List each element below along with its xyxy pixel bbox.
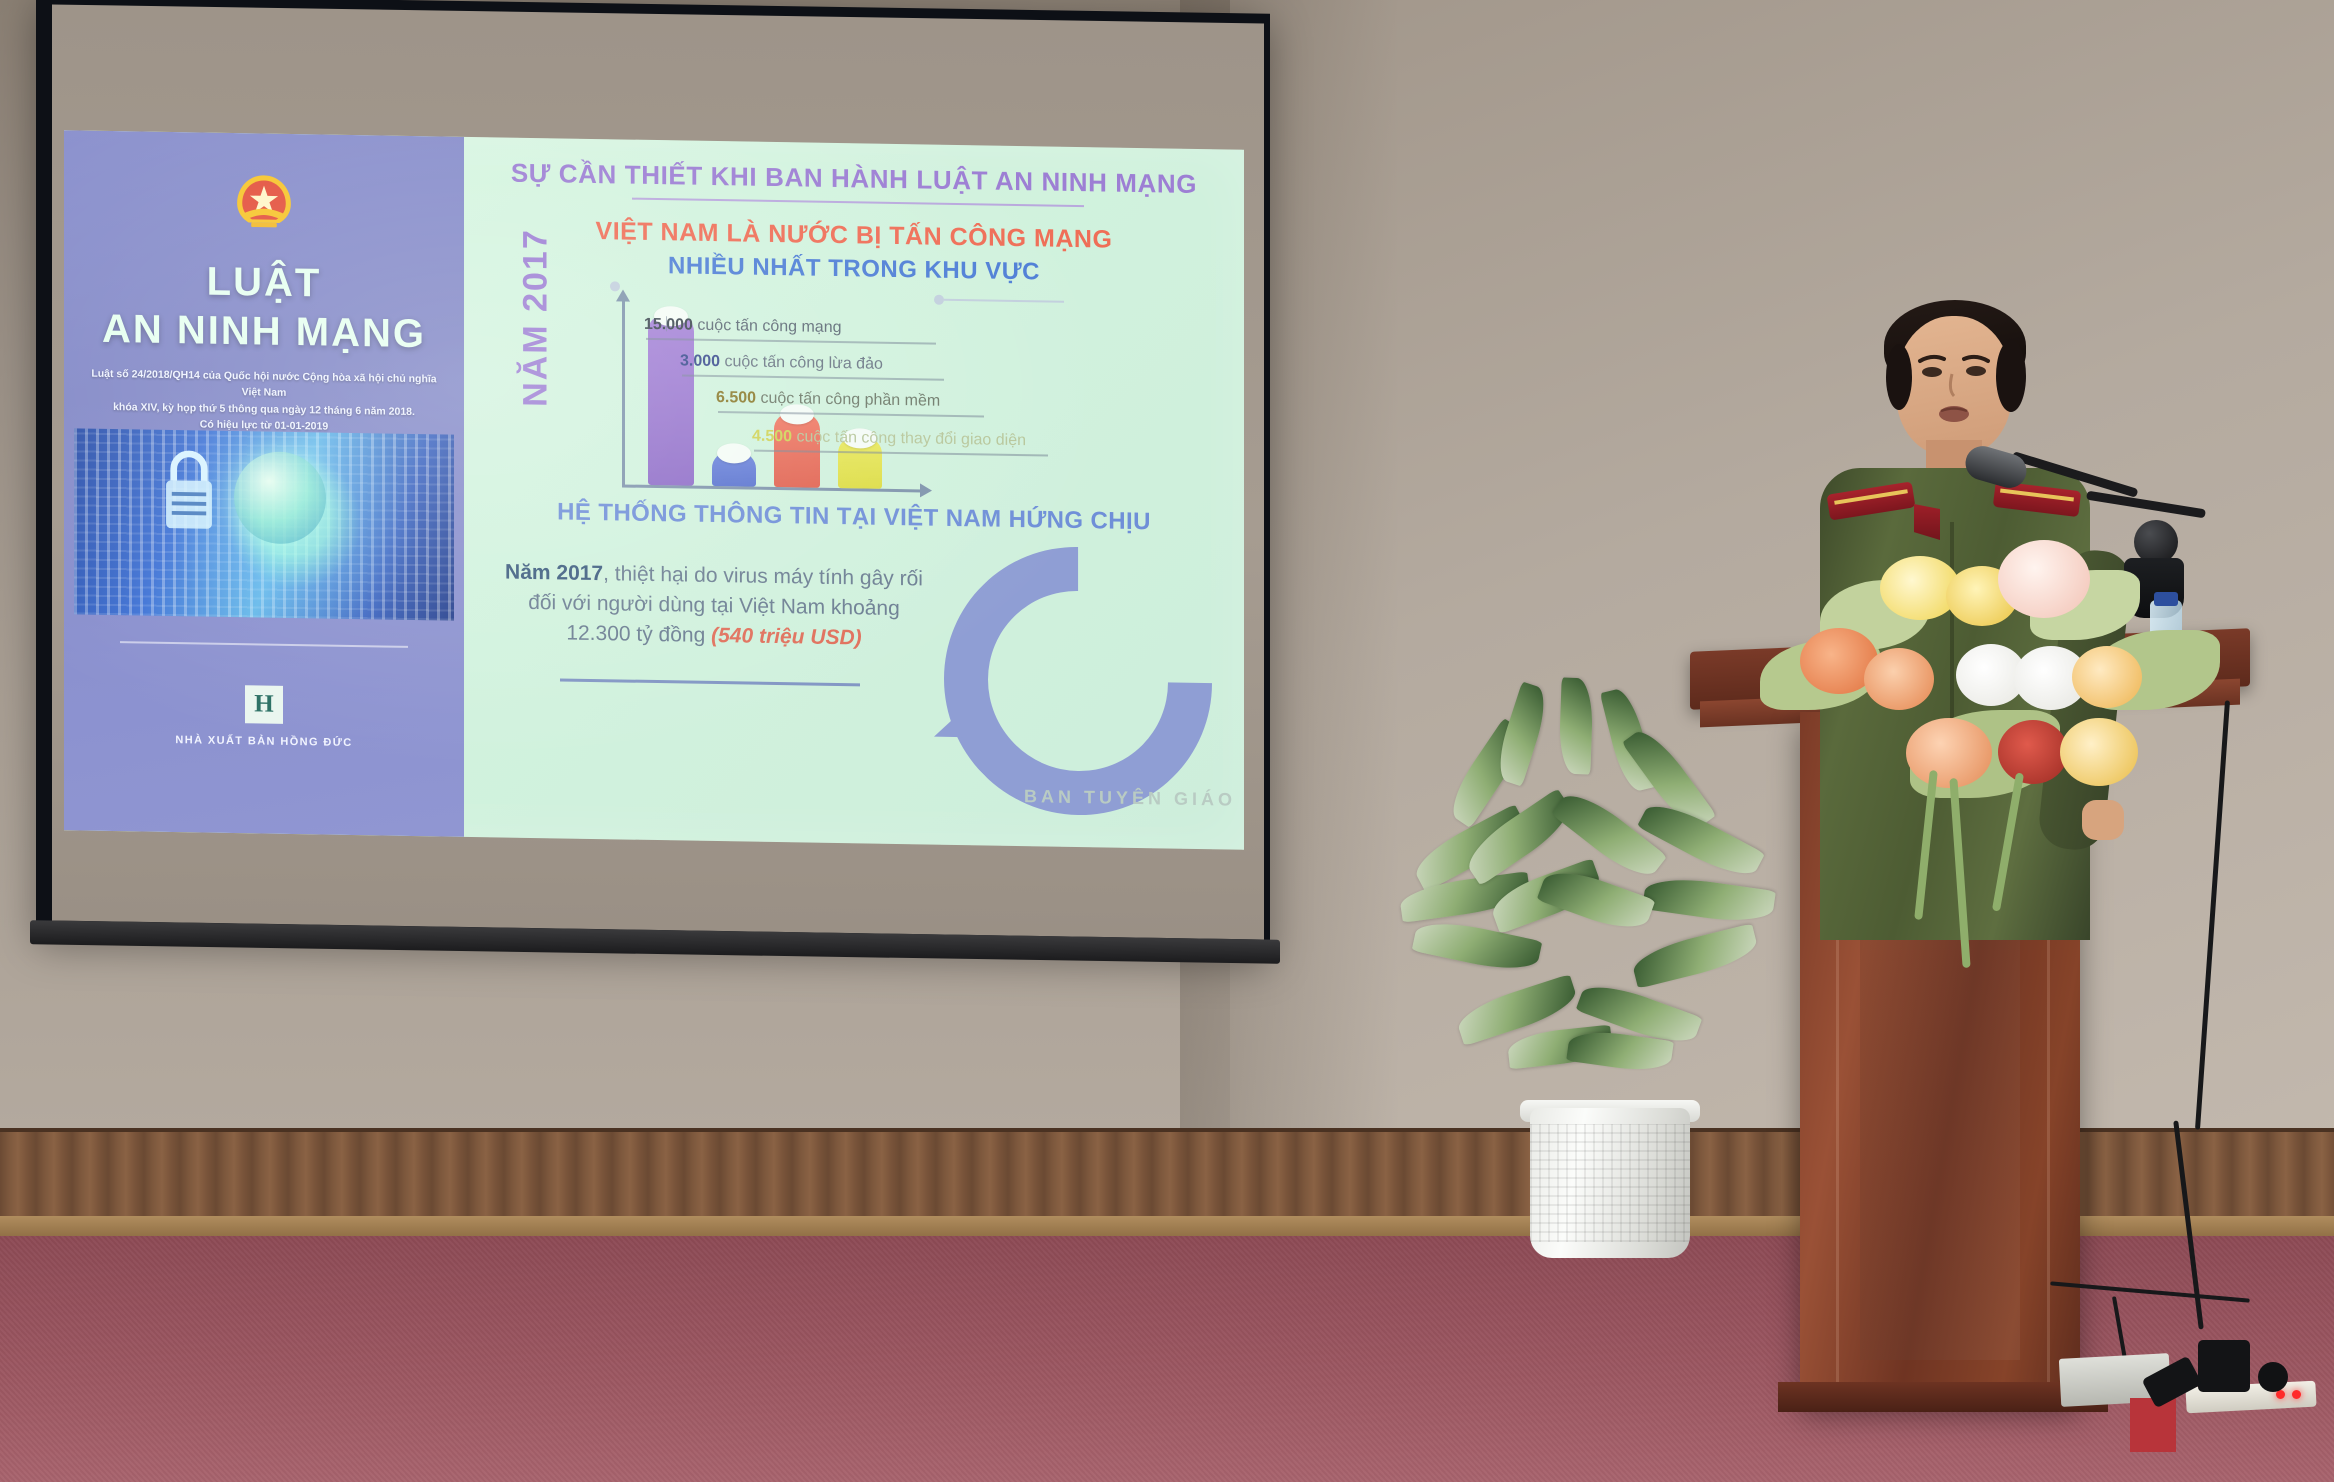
- publisher-logo-icon: H: [245, 685, 283, 724]
- decor-dot: [934, 295, 944, 305]
- decor-triangle: [934, 705, 968, 738]
- paragraph-underline: [560, 678, 860, 686]
- publisher-name: NHÀ XUẤT BẢN HỒNG ĐỨC: [64, 732, 464, 751]
- chart-year-label: NĂM 2017: [517, 227, 556, 408]
- paragraph-usd: (540 triệu USD): [711, 624, 862, 649]
- chart-value-3: 4.500: [752, 428, 792, 446]
- paragraph-lead: Năm 2017: [505, 561, 603, 586]
- chart-label-2: 6.500 cuộc tấn công phần mềm: [716, 389, 940, 411]
- bar-cap: [717, 443, 751, 464]
- chart-value-1: 3.000: [680, 352, 720, 370]
- infographic-heading: SỰ CẦN THIẾT KHI BAN HÀNH LUẬT AN NINH M…: [464, 157, 1244, 201]
- power-adapter: [2198, 1340, 2250, 1392]
- plant-leaf: [1630, 923, 1761, 988]
- book-title-line1: LUẬT: [64, 255, 464, 310]
- book-title-line2: AN NINH MẠNG: [64, 304, 464, 359]
- chart-value-2: 6.500: [716, 389, 756, 407]
- plant-leaf: [1642, 873, 1776, 927]
- slide-infographic: SỰ CẦN THIẾT KHI BAN HÀNH LUẬT AN NINH M…: [464, 137, 1244, 850]
- chart-axis-caption: HỆ THỐNG THÔNG TIN TẠI VIỆT NAM HỨNG CHỊ…: [464, 497, 1244, 538]
- power-strip-led: [2292, 1390, 2301, 1399]
- bouquet-flower: [1864, 648, 1934, 710]
- chart-category-1: cuộc tấn công lừa đảo: [725, 353, 883, 373]
- bouquet-flower: [1906, 718, 1992, 788]
- decor-line: [944, 299, 1064, 302]
- chart-value-0: 15.000: [644, 316, 693, 334]
- chart-y-axis: [622, 297, 625, 487]
- chart-bar-0: [648, 315, 694, 486]
- power-plug: [2258, 1362, 2288, 1392]
- officer-face-features: [1896, 316, 2012, 456]
- bouquet-flower: [2060, 718, 2138, 786]
- bouquet-flower: [1998, 720, 2068, 784]
- bouquet-flower: [1998, 540, 2090, 618]
- globe-icon: [234, 451, 326, 545]
- chart-label-0: 15.000 cuộc tấn công mạng: [644, 316, 841, 337]
- slide-book-subtitle: Luật số 24/2018/QH14 của Quốc hội nước C…: [90, 366, 438, 437]
- chart-bar-1: [712, 452, 756, 487]
- slide-book-title: LUẬT AN NINH MẠNG: [64, 255, 464, 359]
- infographic-paragraph: Năm 2017, thiệt hại do virus máy tính gâ…: [504, 558, 924, 654]
- heading-underline: [632, 198, 1084, 207]
- book-divider: [120, 641, 408, 648]
- photo-scene: LUẬT AN NINH MẠNG Luật số 24/2018/QH14 c…: [0, 0, 2334, 1482]
- floor-device-red: [2130, 1398, 2176, 1452]
- chart-category-3: cuộc tấn công thay đổi giao diện: [797, 428, 1027, 449]
- slide-book-cover: LUẬT AN NINH MẠNG Luật số 24/2018/QH14 c…: [64, 130, 464, 837]
- chart-label-1: 3.000 cuộc tấn công lừa đảo: [680, 352, 883, 373]
- chart-category-0: cuộc tấn công mạng: [697, 317, 841, 336]
- bouquet-flower: [2072, 646, 2142, 708]
- infographic-subheading-line2: NHIỀU NHẤT TRONG KHU VỰC: [464, 249, 1244, 290]
- plant-pot-texture: [1530, 1124, 1690, 1242]
- chart-y-axis-arrow: [616, 289, 630, 301]
- slide-watermark: BAN TUYÊN GIÁO: [1024, 786, 1236, 811]
- chart-category-2: cuộc tấn công phần mềm: [761, 390, 941, 410]
- projected-slide: LUẬT AN NINH MẠNG Luật số 24/2018/QH14 c…: [64, 130, 1244, 850]
- padlock-icon: [160, 446, 218, 533]
- vietnam-national-emblem-icon: [232, 171, 296, 236]
- lectern-base: [1778, 1382, 2108, 1412]
- flower-arrangement: [1760, 520, 2230, 810]
